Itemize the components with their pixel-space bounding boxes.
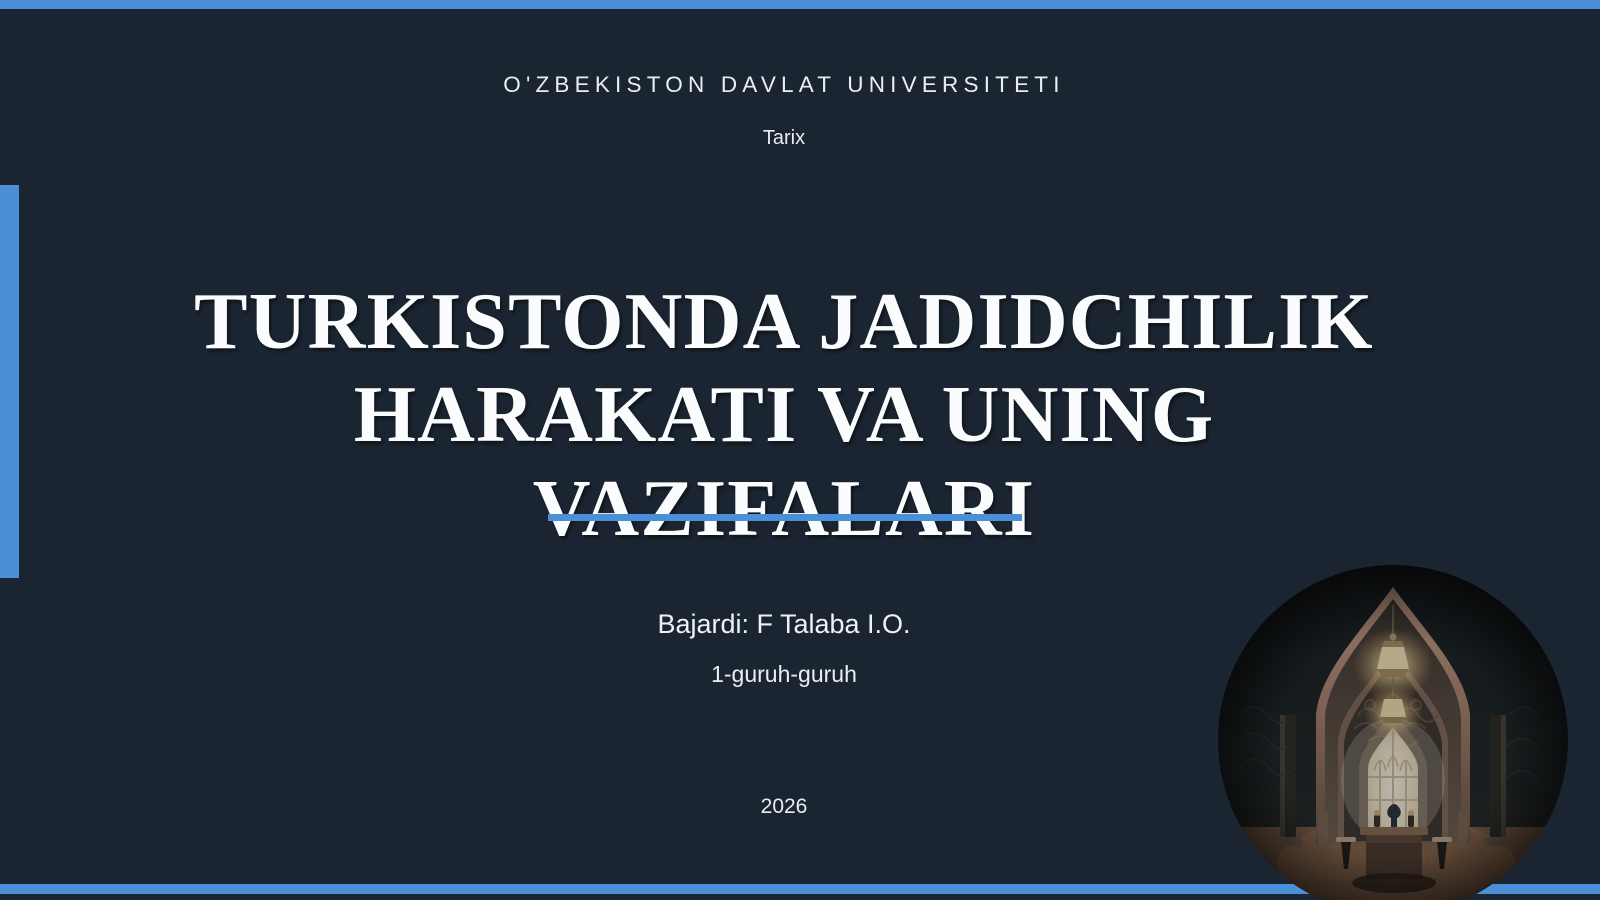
title-divider — [548, 514, 1022, 521]
organization-name: O'ZBEKISTON DAVLAT UNIVERSITETI — [0, 72, 1568, 98]
department-name: Tarix — [0, 127, 1568, 150]
mosque-interior-illustration — [1218, 565, 1568, 900]
mosque-interior-photo — [1218, 565, 1568, 900]
presentation-slide: O'ZBEKISTON DAVLAT UNIVERSITETI Tarix TU… — [0, 0, 1600, 900]
left-accent-bar — [0, 185, 19, 578]
top-accent-bar — [0, 0, 1600, 9]
